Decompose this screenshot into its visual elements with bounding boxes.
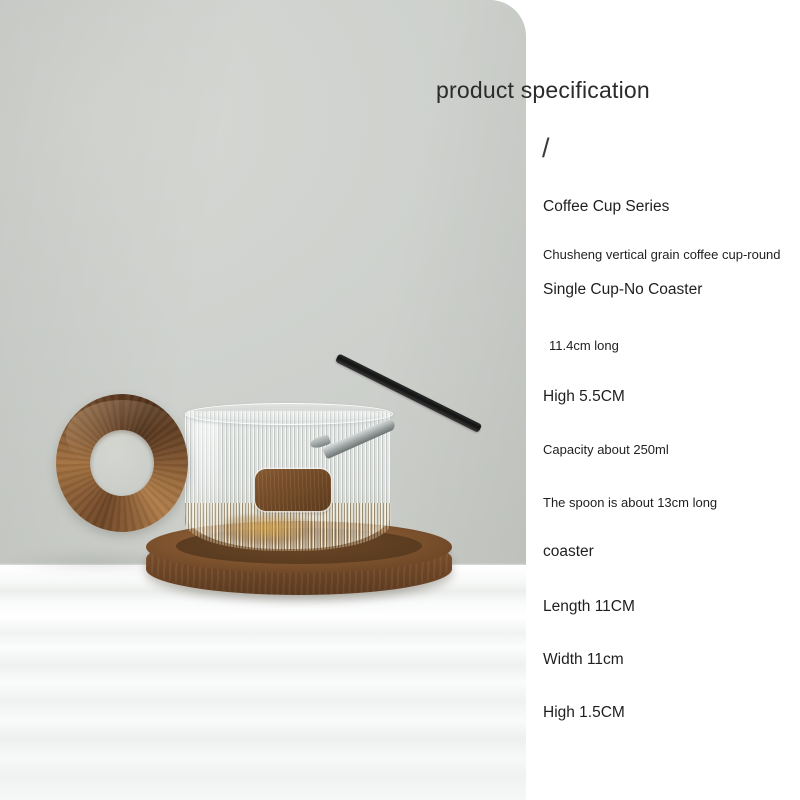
spec-item-name: Chusheng vertical grain coffee cup-round bbox=[543, 247, 793, 263]
ribbed-glass-cup bbox=[185, 403, 391, 555]
wooden-label-patch bbox=[255, 469, 331, 511]
wooden-ring-handle bbox=[56, 394, 188, 532]
spec-item-height: High 5.5CM bbox=[543, 388, 793, 407]
spec-item-variant: Single Cup-No Coaster bbox=[543, 281, 793, 300]
specification-panel: product specification / Coffee Cup Serie… bbox=[526, 0, 800, 800]
product-photo bbox=[0, 0, 526, 800]
page-title: product specification bbox=[436, 77, 736, 104]
spec-item-spoon: The spoon is about 13cm long bbox=[543, 495, 793, 511]
spec-item-length: 11.4cm long bbox=[543, 338, 793, 354]
coaster-width: Width 11cm bbox=[543, 651, 793, 670]
coaster-length: Length 11CM bbox=[543, 598, 793, 617]
coaster-height: High 1.5CM bbox=[543, 704, 793, 723]
coaster-heading: coaster bbox=[543, 543, 793, 562]
product-specification-image: product specification / Coffee Cup Serie… bbox=[0, 0, 800, 800]
series-heading: Coffee Cup Series bbox=[543, 198, 793, 217]
glass-inner-rim bbox=[194, 407, 384, 422]
label-wood-grain bbox=[255, 469, 331, 511]
spec-item-capacity: Capacity about 250ml bbox=[543, 442, 793, 458]
divider-slash: / bbox=[542, 133, 550, 164]
spec-list: Coffee Cup Series Chusheng vertical grai… bbox=[543, 198, 793, 723]
ring-hole bbox=[90, 430, 154, 496]
